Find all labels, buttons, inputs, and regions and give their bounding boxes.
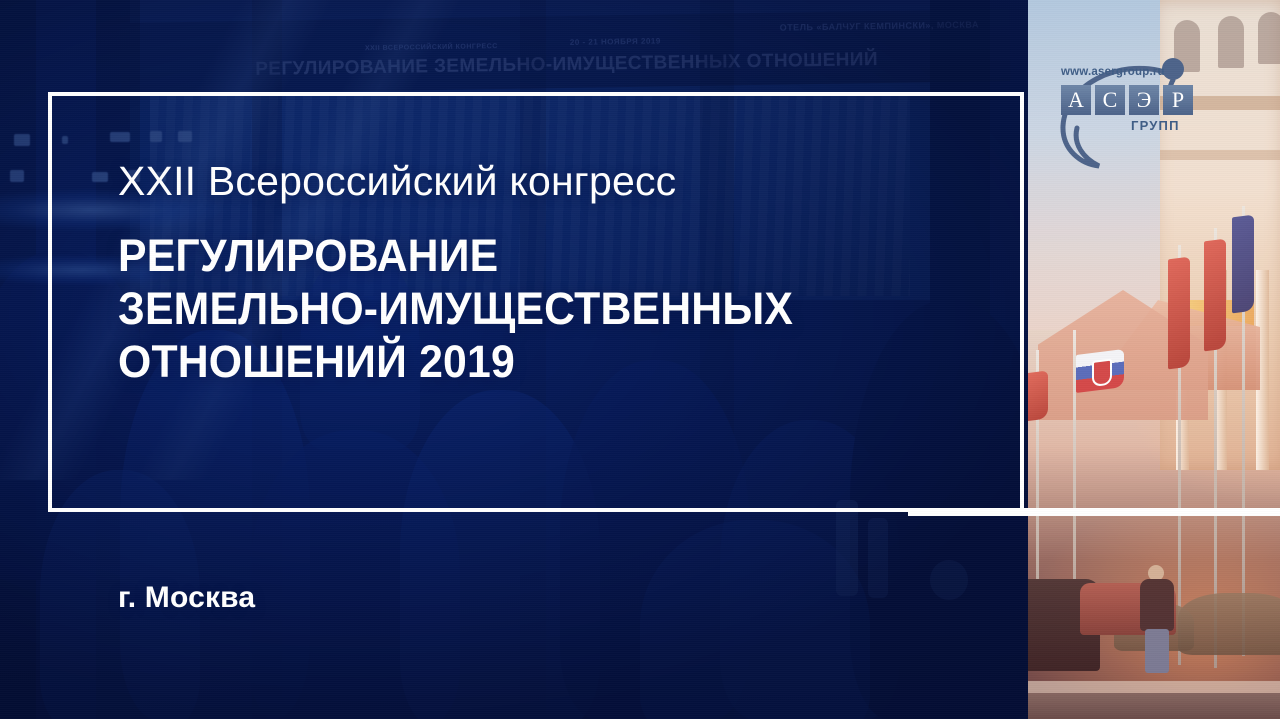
logo-letter-r: Р (1163, 85, 1193, 115)
headline-line-1: РЕГУЛИРОВАНИЕ (118, 229, 954, 282)
poster-text-block: XXII Всероссийский конгресс РЕГУЛИРОВАНИ… (118, 160, 998, 388)
logo-letter-s: С (1095, 85, 1125, 115)
headline-line-2: ЗЕМЕЛЬНО-ИМУЩЕСТВЕННЫХ (118, 282, 954, 335)
logo-suffix: ГРУПП (1131, 118, 1180, 133)
logo-letter-tiles: А С Э Р (1061, 85, 1193, 115)
poster-city: г. Москва (118, 581, 255, 615)
headline-line-3: ОТНОШЕНИЙ 2019 (118, 335, 954, 388)
logo-letter-e: Э (1129, 85, 1159, 115)
decorative-frame-bar (908, 508, 1280, 516)
poster-eyebrow: XXII Всероссийский конгресс (118, 160, 998, 203)
asergroup-logo[interactable]: www.asergroup.ru А С Э Р ГРУПП (1047, 52, 1215, 184)
logo-url: www.asergroup.ru (1061, 66, 1165, 78)
logo-letter-a: А (1061, 85, 1091, 115)
poster-headline: РЕГУЛИРОВАНИЕ ЗЕМЕЛЬНО-ИМУЩЕСТВЕННЫХ ОТН… (118, 229, 954, 388)
poster-canvas: XXII ВСЕРОССИЙСКИЙ КОНГРЕСС 20 - 21 НОЯБ… (0, 0, 1280, 719)
